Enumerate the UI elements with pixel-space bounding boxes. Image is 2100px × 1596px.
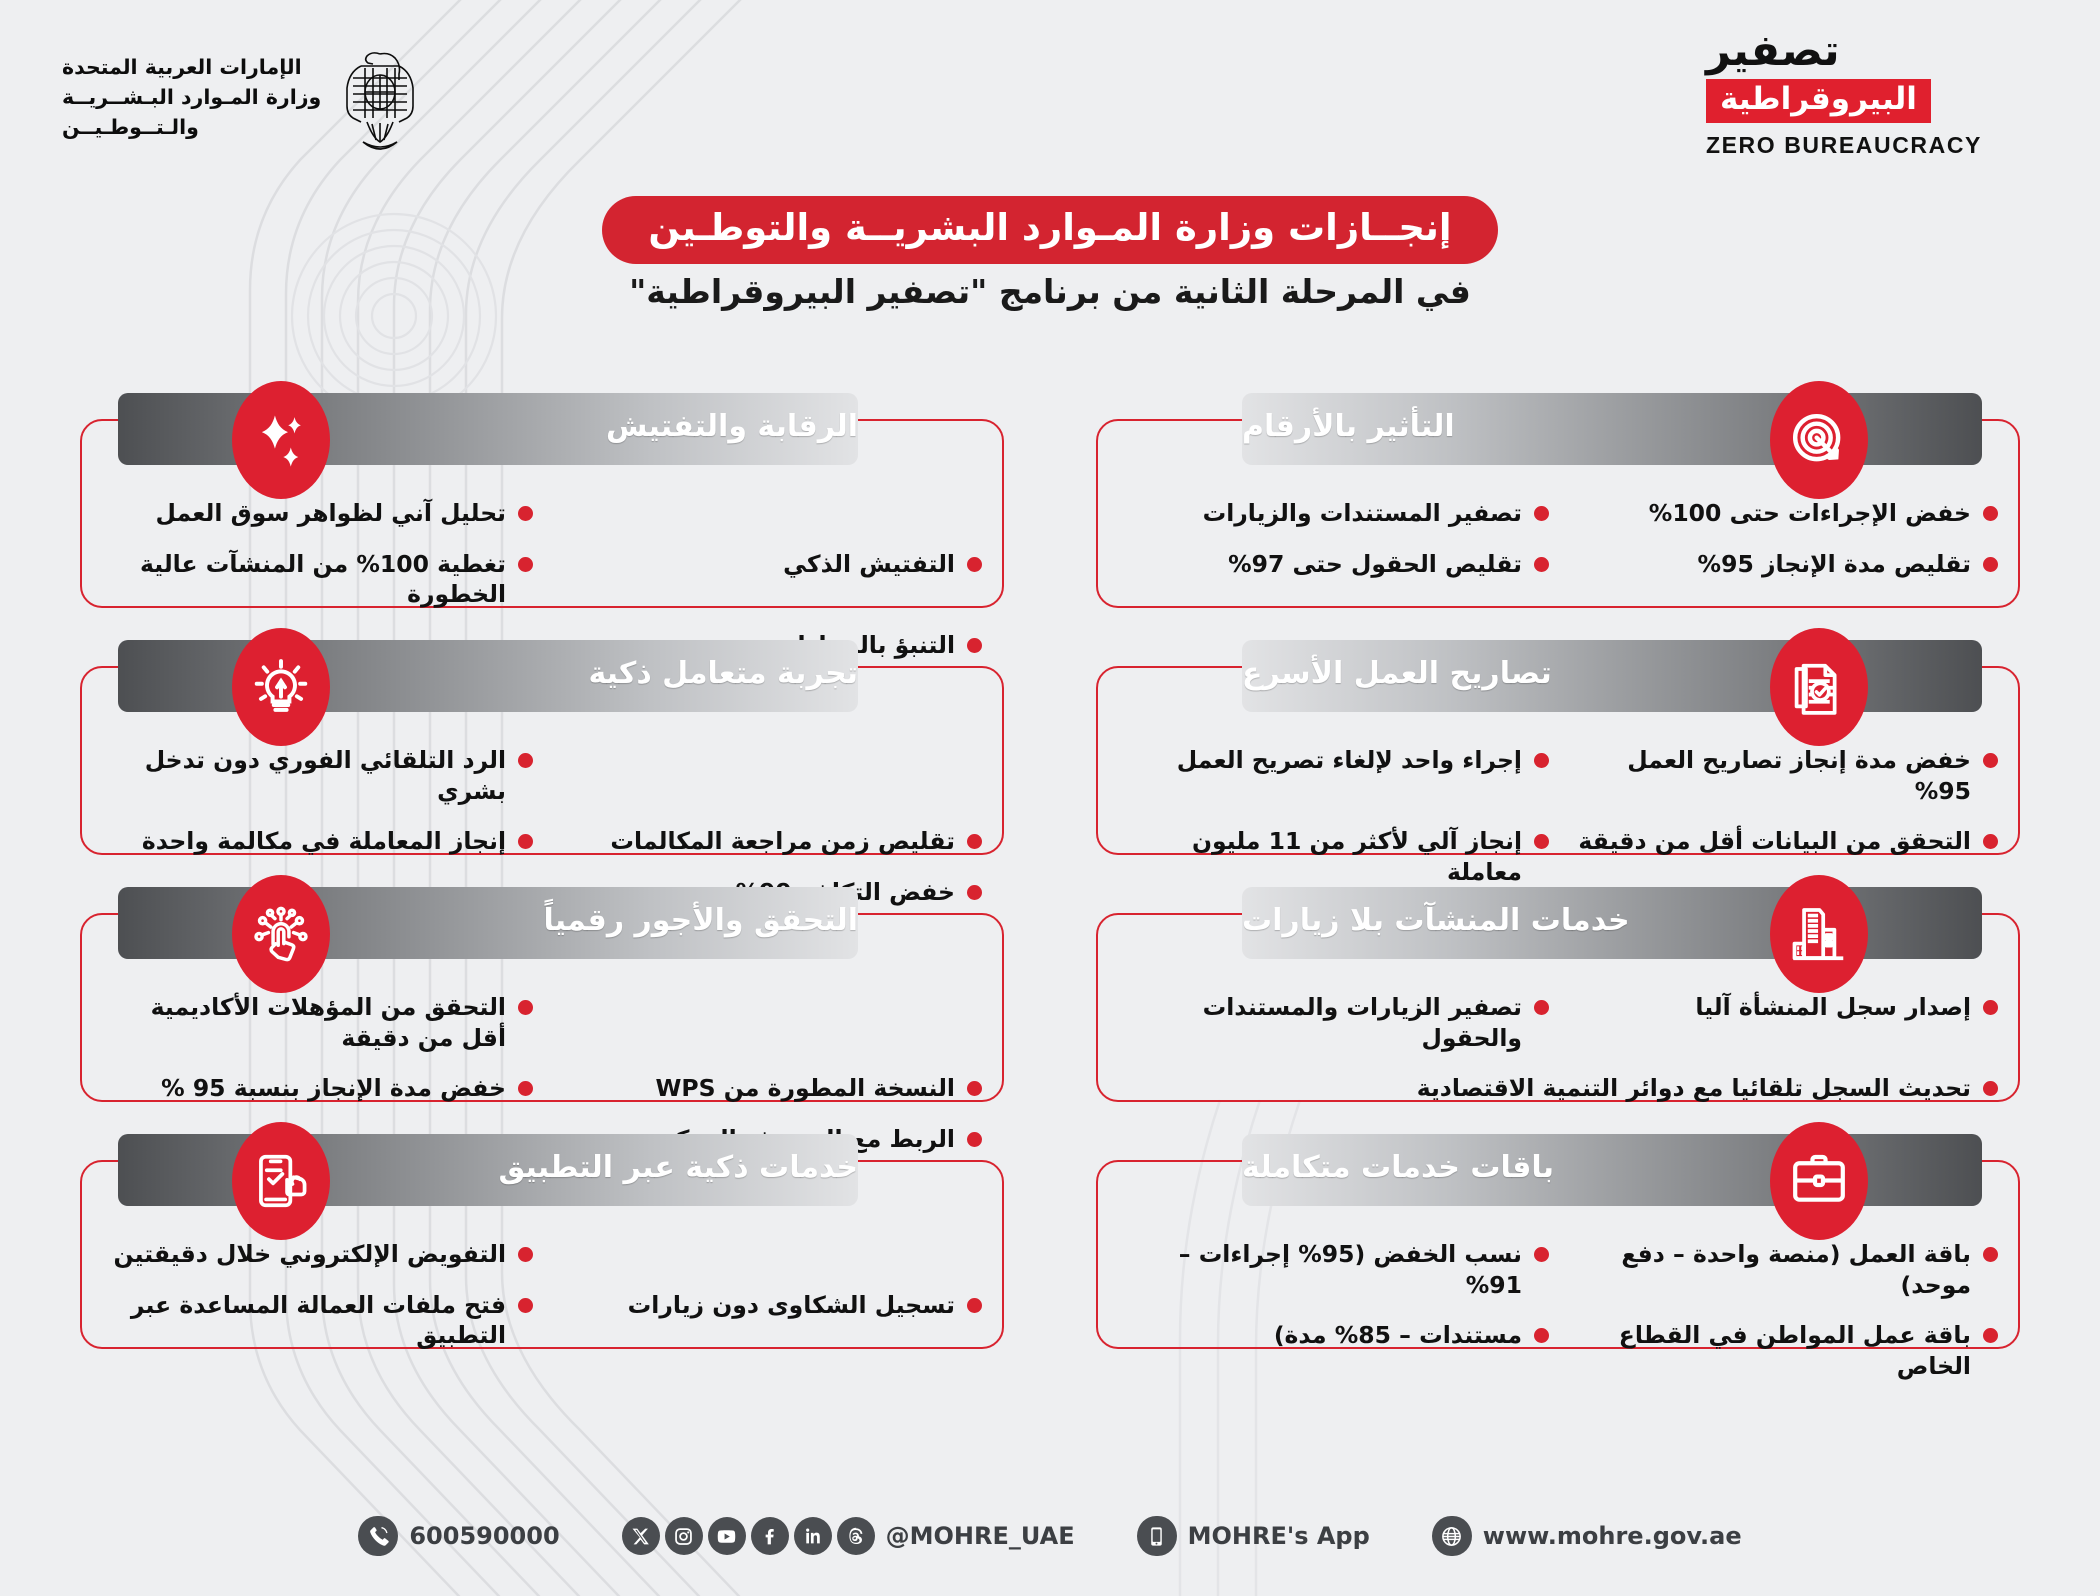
bullet-dot-icon — [1983, 753, 1998, 768]
card-bullet-item: تسجيل الشكاوى دون زيارات — [547, 1281, 986, 1360]
bullet-dot-icon — [967, 1081, 982, 1096]
card-bullet-list: التحقق من المؤهلات الأكاديمية أقل من دقي… — [98, 983, 986, 1092]
card-bullet-item: التحقق من البيانات أقل من دقيقة — [1563, 817, 2002, 896]
youtube-icon[interactable] — [708, 1517, 746, 1555]
achievement-card-smart-customer-experience: تجربة متعامل ذكيةالرد التلقائي الفوري دو… — [80, 640, 1004, 855]
bullet-text: خفض مدة الإنجاز بنسبة 95 % — [161, 1073, 506, 1104]
card-bullet-item: التفويض الإلكتروني خلال دقيقتين — [98, 1230, 537, 1279]
card-bullet-list: الرد التلقائي الفوري دون تدخل بشريتقليص … — [98, 736, 986, 845]
card-bullet-item: تصفير المستندات والزيارات — [1114, 489, 1553, 538]
bullet-dot-icon — [518, 557, 533, 572]
footer-social-handle: @MOHRE_UAE — [886, 1522, 1075, 1550]
bullet-dot-icon — [518, 1298, 533, 1313]
card-bullet-item: إصدار سجل المنشأة آليا — [1563, 983, 2002, 1062]
mobile-phone-icon — [1137, 1516, 1177, 1556]
bullet-text: إصدار سجل المنشأة آليا — [1695, 992, 1971, 1023]
zb-arabic-band: البيروقراطية — [1706, 79, 1931, 123]
page-subtitle: في المرحلة الثانية من برنامج "تصفير البي… — [629, 272, 1471, 312]
footer-app[interactable]: MOHRE's App — [1137, 1516, 1370, 1556]
bullet-text: التحقق من المؤهلات الأكاديمية أقل من دقي… — [102, 992, 506, 1053]
mobile-tap-icon — [232, 1122, 330, 1240]
card-bullet-list: تحليل آني لظواهر سوق العملالتفتيش الذكيت… — [98, 489, 986, 598]
card-header-bar: باقات خدمات متكاملة — [1242, 1134, 1982, 1206]
bullet-text: تقليص زمن مراجعة المكالمات — [610, 826, 955, 857]
bullet-dot-icon — [518, 1081, 533, 1096]
card-bullet-item: النسخة المطورة من WPS — [547, 1064, 986, 1113]
footer-website-label: www.mohre.gov.ae — [1483, 1522, 1742, 1550]
bullet-dot-icon — [1534, 753, 1549, 768]
card-bullet-item: باقة عمل المواطن في القطاع الخاص — [1563, 1311, 2002, 1390]
card-bullet-item: إنجاز المعاملة في مكالمة واحدة — [98, 817, 537, 866]
bullet-text: إجراء واحد لإلغاء تصريح العمل — [1177, 745, 1522, 776]
bullet-dot-icon — [1534, 1328, 1549, 1343]
card-bullet-item: خفض الإجراءات حتى 100% — [1563, 489, 2002, 538]
bullet-text: تقليص مدة الإنجاز 95% — [1698, 549, 1971, 580]
bullet-dot-icon — [518, 834, 533, 849]
bullet-dot-icon — [1983, 557, 1998, 572]
bullet-dot-icon — [518, 1247, 533, 1262]
card-bullet-list: التفويض الإلكتروني خلال دقيقتينتسجيل الش… — [98, 1230, 986, 1339]
zb-english-label: ZERO BUREAUCRACY — [1706, 132, 1982, 159]
achievement-card-integrated-service-packages: باقات خدمات متكاملةباقة العمل (منصة واحد… — [1096, 1134, 2020, 1349]
ministry-name-line-1: الإمارات العربية المتحدة — [62, 54, 302, 80]
page-header: الإمارات العربية المتحدة وزارة المـوارد … — [0, 0, 2100, 200]
card-title: التأثير بالأرقام — [1242, 412, 1455, 442]
ministry-logo-lockup: الإمارات العربية المتحدة وزارة المـوارد … — [62, 48, 421, 158]
card-title: تصاريح العمل الأسرع — [1242, 659, 1552, 689]
card-header-bar: تصاريح العمل الأسرع — [1242, 640, 1982, 712]
lightbulb-icon — [232, 628, 330, 746]
achievement-card-fastest-work-permits: تصاريح العمل الأسرعخفض مدة إنجاز تصاريح … — [1096, 640, 2020, 855]
card-bullet-item: باقة العمل (منصة واحدة – دفع موحد) — [1563, 1230, 2002, 1309]
card-header-bar: الرقابة والتفتيش — [118, 393, 858, 465]
card-title: خدمات المنشآت بلا زيارات — [1242, 906, 1630, 936]
bullet-text: تغطية 100% من المنشآت عالية الخطورة — [102, 549, 506, 610]
bullet-text: التحقق من البيانات أقل من دقيقة — [1578, 826, 1971, 857]
bullet-dot-icon — [518, 753, 533, 768]
facebook-icon[interactable] — [751, 1517, 789, 1555]
card-bullet-item: تقليص زمن مراجعة المكالمات — [547, 817, 986, 866]
card-bullet-item: تحليل آني لظواهر سوق العمل — [98, 489, 537, 538]
page-footer: 600590000 @MOHRE_UAE — [0, 1504, 2100, 1568]
bullet-dot-icon — [518, 1000, 533, 1015]
bullet-text: إنجاز المعاملة في مكالمة واحدة — [142, 826, 506, 857]
briefcase-icon — [1770, 1122, 1868, 1240]
card-bullet-item: تقليص مدة الإنجاز 95% — [1563, 540, 2002, 589]
card-title: باقات خدمات متكاملة — [1242, 1153, 1554, 1183]
title-block: إنجــازات وزارة المـوارد البشريــة والتو… — [0, 196, 2100, 312]
ministry-name-line-3: والـتــوطـيــن — [62, 114, 199, 140]
card-bullet-item: إنجاز آلي لأكثر من 11 مليون معاملة — [1114, 817, 1553, 896]
threads-icon[interactable] — [837, 1517, 875, 1555]
bullet-dot-icon — [1534, 1000, 1549, 1015]
bullet-dot-icon — [518, 506, 533, 521]
footer-phone[interactable]: 600590000 — [358, 1516, 559, 1556]
bullet-text: فتح ملفات العمالة المساعدة عبر التطبيق — [102, 1290, 506, 1351]
x-twitter-icon[interactable] — [622, 1517, 660, 1555]
bullet-text: نسب الخفض (95% إجراءات – 91% — [1118, 1239, 1522, 1300]
bullet-dot-icon — [1534, 557, 1549, 572]
globe-icon — [1432, 1516, 1472, 1556]
bullet-dot-icon — [1983, 1081, 1998, 1096]
bullet-dot-icon — [1983, 1328, 1998, 1343]
bullet-text: باقة العمل (منصة واحدة – دفع موحد) — [1567, 1239, 1971, 1300]
card-bullet-item: إجراء واحد لإلغاء تصريح العمل — [1114, 736, 1553, 815]
footer-app-label: MOHRE's App — [1188, 1522, 1370, 1550]
sparkle-icon — [232, 381, 330, 499]
page-title: إنجــازات وزارة المـوارد البشريــة والتو… — [602, 196, 1497, 264]
document-check-icon — [1770, 628, 1868, 746]
bullet-dot-icon — [1534, 506, 1549, 521]
bullet-text: تحديث السجل تلقائيا مع دوائر التنمية الا… — [1417, 1073, 1971, 1104]
card-title: الرقابة والتفتيش — [606, 412, 858, 442]
instagram-icon[interactable] — [665, 1517, 703, 1555]
footer-phone-label: 600590000 — [409, 1522, 559, 1550]
card-bullet-list: إصدار سجل المنشأة آلياتصفير الزيارات وال… — [1114, 983, 2002, 1092]
card-header-bar: خدمات ذكية عبر التطبيق — [118, 1134, 858, 1206]
card-bullet-item: تحديث السجل تلقائيا مع دوائر التنمية الا… — [1114, 1064, 2002, 1113]
card-bullet-list: خفض مدة إنجاز تصاريح العمل 95%إجراء واحد… — [1114, 736, 2002, 845]
card-bullet-item: تغطية 100% من المنشآت عالية الخطورة — [98, 540, 537, 619]
bullet-text: باقة عمل المواطن في القطاع الخاص — [1567, 1320, 1971, 1381]
bullet-text: الرد التلقائي الفوري دون تدخل بشري — [102, 745, 506, 806]
bullet-dot-icon — [1534, 1247, 1549, 1262]
bullet-text: تسجيل الشكاوى دون زيارات — [628, 1290, 955, 1321]
bullet-text: تصفير المستندات والزيارات — [1203, 498, 1522, 529]
achievement-card-impact-in-numbers: التأثير بالأرقامخفض الإجراءات حتى 100%تص… — [1096, 393, 2020, 608]
bullet-text: التفويض الإلكتروني خلال دقيقتين — [114, 1239, 506, 1270]
card-title: التحقق والأجور رقمياً — [544, 906, 858, 936]
bullet-dot-icon — [1983, 1247, 1998, 1262]
card-header-bar: تجربة متعامل ذكية — [118, 640, 858, 712]
building-icon — [1770, 875, 1868, 993]
card-bullet-item: نسب الخفض (95% إجراءات – 91% — [1114, 1230, 1553, 1309]
achievement-card-monitoring-and-inspection: الرقابة والتفتيشتحليل آني لظواهر سوق الع… — [80, 393, 1004, 608]
card-header-bar: خدمات المنشآت بلا زيارات — [1242, 887, 1982, 959]
achievement-card-establishment-services-no-visits: خدمات المنشآت بلا زياراتإصدار سجل المنشأ… — [1096, 887, 2020, 1102]
bullet-dot-icon — [1983, 1000, 1998, 1015]
zb-arabic-top: تصفير — [1706, 30, 1840, 77]
card-title: خدمات ذكية عبر التطبيق — [498, 1153, 858, 1183]
bullet-text: التفتيش الذكي — [783, 549, 955, 580]
linkedin-icon[interactable] — [794, 1517, 832, 1555]
card-bullet-item: خفض مدة إنجاز تصاريح العمل 95% — [1563, 736, 2002, 815]
bullet-text: إنجاز آلي لأكثر من 11 مليون معاملة — [1118, 826, 1522, 887]
phone-icon — [358, 1516, 398, 1556]
footer-social[interactable]: @MOHRE_UAE — [622, 1517, 1075, 1555]
target-arrow-icon — [1770, 381, 1868, 499]
card-header-bar: التحقق والأجور رقمياً — [118, 887, 858, 959]
card-bullet-item: خفض مدة الإنجاز بنسبة 95 % — [98, 1064, 537, 1113]
card-bullet-item: الرد التلقائي الفوري دون تدخل بشري — [98, 736, 537, 815]
achievement-card-grid: التأثير بالأرقامخفض الإجراءات حتى 100%تص… — [80, 393, 2020, 1349]
bullet-dot-icon — [967, 834, 982, 849]
card-bullet-list: باقة العمل (منصة واحدة – دفع موحد)نسب ال… — [1114, 1230, 2002, 1339]
bullet-dot-icon — [967, 557, 982, 572]
uae-falcon-emblem-icon — [339, 48, 421, 158]
bullet-text: خفض مدة إنجاز تصاريح العمل 95% — [1567, 745, 1971, 806]
card-bullet-item: فتح ملفات العمالة المساعدة عبر التطبيق — [98, 1281, 537, 1360]
bullet-dot-icon — [1983, 834, 1998, 849]
fingerprint-network-icon — [232, 875, 330, 993]
card-bullet-item: مستندات – 85% مدة) — [1114, 1311, 1553, 1390]
achievement-card-digital-verification-and-wages: التحقق والأجور رقمياًالتحقق من المؤهلات … — [80, 887, 1004, 1102]
card-title: تجربة متعامل ذكية — [588, 659, 858, 689]
bullet-dot-icon — [967, 1298, 982, 1313]
card-bullet-item: تقليص الحقول حتى 97% — [1114, 540, 1553, 589]
bullet-text: تحليل آني لظواهر سوق العمل — [156, 498, 506, 529]
bullet-dot-icon — [1983, 506, 1998, 521]
card-bullet-item: تصفير الزيارات والمستندات والحقول — [1114, 983, 1553, 1062]
zero-bureaucracy-logo: تصفير البيروقراطية ZERO BUREAUCRACY — [1706, 30, 1982, 159]
bullet-text: النسخة المطورة من WPS — [655, 1073, 955, 1104]
bullet-text: خفض الإجراءات حتى 100% — [1649, 498, 1971, 529]
achievement-card-smart-services-via-app: خدمات ذكية عبر التطبيقالتفويض الإلكتروني… — [80, 1134, 1004, 1349]
bullet-text: مستندات – 85% مدة) — [1274, 1320, 1522, 1351]
bullet-text: تقليص الحقول حتى 97% — [1228, 549, 1522, 580]
card-bullet-item: التحقق من المؤهلات الأكاديمية أقل من دقي… — [98, 983, 537, 1062]
ministry-name-line-2: وزارة المـوارد البـشــريــة — [62, 84, 321, 110]
card-bullet-list: خفض الإجراءات حتى 100%تصفير المستندات وا… — [1114, 489, 2002, 598]
bullet-text: تصفير الزيارات والمستندات والحقول — [1118, 992, 1522, 1053]
card-header-bar: التأثير بالأرقام — [1242, 393, 1982, 465]
card-bullet-item: التفتيش الذكي — [547, 540, 986, 619]
footer-website[interactable]: www.mohre.gov.ae — [1432, 1516, 1742, 1556]
bullet-dot-icon — [1534, 834, 1549, 849]
